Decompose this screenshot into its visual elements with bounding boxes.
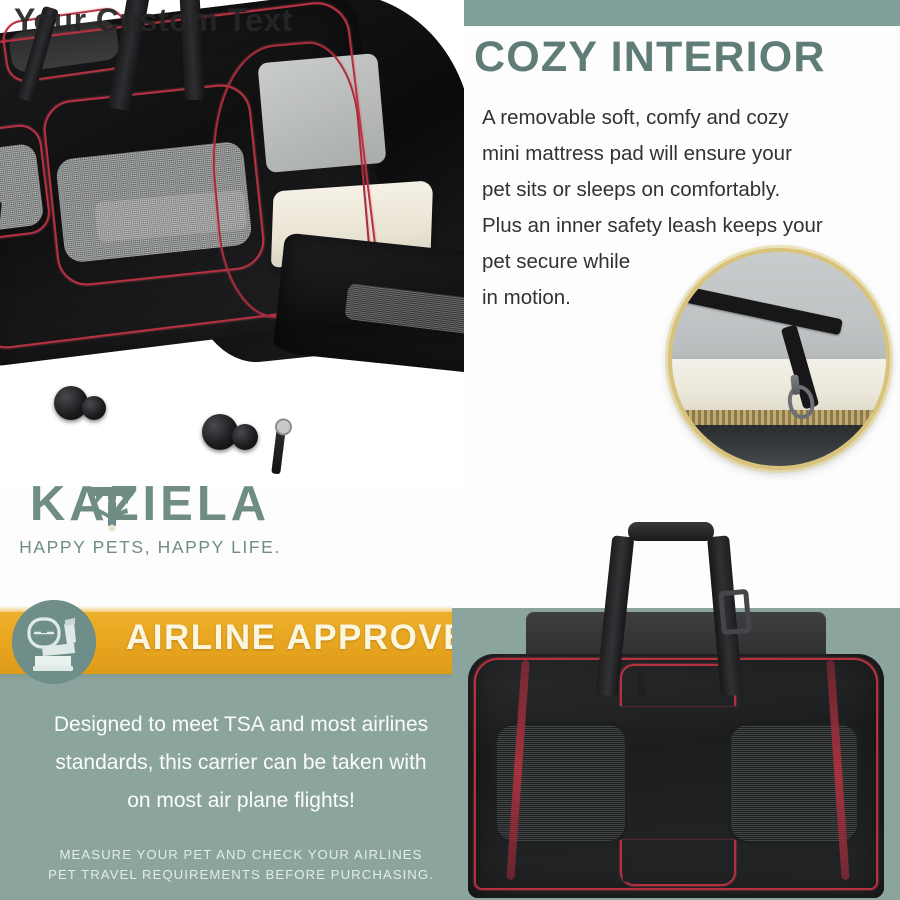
strap-buckle-icon [718, 589, 752, 635]
cat-face-icon [90, 484, 134, 532]
wheel-4 [232, 424, 258, 450]
brand-wordmark: KAZIELA [14, 480, 286, 530]
pet-carrier-under-seat-glyph [12, 600, 96, 684]
inset-zipper-track [668, 410, 890, 425]
katziela-logo: KAZIELA HAPPY PETS, HAPPY LIFE. [14, 480, 286, 558]
airline-description: Designed to meet TSA and most airlines s… [8, 706, 474, 820]
inset-carrier-base [668, 425, 890, 470]
airline-desc-line-2: standards, this carrier can be taken wit… [8, 744, 474, 782]
closed-photo-white-bg [452, 504, 900, 608]
paragraph-line-2: mini mattress pad will ensure your [482, 136, 874, 172]
inset-mattress-pad [668, 359, 890, 415]
closed-red-piping-bottom [620, 840, 736, 886]
safety-leash-closeup-inset [668, 248, 890, 470]
paragraph-line-4: Plus an inner safety leash keeps your [482, 208, 874, 244]
paragraph-line-3: pet sits or sleeps on comfortably. [482, 172, 874, 208]
brand-tagline: HAPPY PETS, HAPPY LIFE. [14, 537, 286, 558]
airline-note-line-2: PET TRAVEL REQUIREMENTS BEFORE PURCHASIN… [8, 865, 474, 885]
custom-text-overlay: Your Custom Text [14, 2, 293, 39]
airline-approved-label: AIRLINE APPROVED [126, 618, 495, 658]
wheel-2 [82, 396, 106, 420]
open-carrier-photo [0, 0, 464, 486]
cozy-interior-headline: COZY INTERIOR [474, 36, 886, 79]
airline-desc-line-3: on most air plane flights! [8, 782, 474, 820]
airline-seat-icon [12, 600, 96, 684]
product-infographic-canvas: Your Custom Text COZY INTERIOR A removab… [0, 0, 900, 900]
paragraph-line-1: A removable soft, comfy and cozy [482, 100, 874, 136]
airline-measure-note: MEASURE YOUR PET AND CHECK YOUR AIRLINES… [8, 845, 474, 885]
closed-handle-grip [628, 522, 714, 541]
airline-desc-line-1: Designed to meet TSA and most airlines [8, 706, 474, 744]
airline-note-line-1: MEASURE YOUR PET AND CHECK YOUR AIRLINES [8, 845, 474, 865]
closed-carrier-photo [452, 504, 900, 900]
